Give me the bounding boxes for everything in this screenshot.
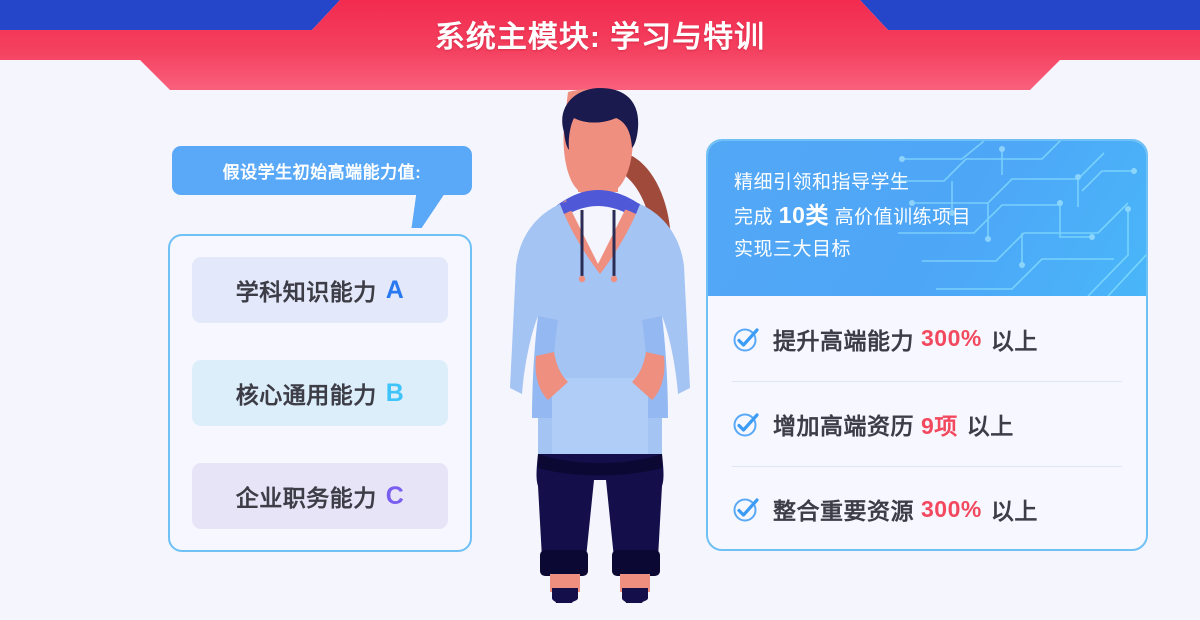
check-circle-icon: [732, 495, 760, 523]
goal-value: 300%: [921, 496, 982, 523]
check-circle-icon: [732, 410, 760, 438]
header-line-3: 实现三大目标: [734, 234, 1146, 266]
goal-text: 整合重要资源: [773, 492, 914, 526]
poster-canvas: 系统主模块: 学习与特训: [0, 0, 1200, 620]
speech-bubble-tail: [412, 194, 445, 228]
goal-item[interactable]: 增加高端资历 9项 以上: [732, 381, 1122, 466]
header-line-2: 完成 10类 高价值训练项目: [734, 199, 1146, 234]
speech-bubble-text: 假设学生初始高端能力值:: [223, 158, 422, 183]
goal-card-header: 精细引领和指导学生 完成 10类 高价值训练项目 实现三大目标: [708, 141, 1146, 296]
header-line-2-pre: 完成: [734, 207, 779, 228]
shoe-left: [552, 588, 578, 603]
header-line-2-post: 高价值训练项目: [829, 207, 971, 228]
goal-text: 增加高端资历: [773, 407, 914, 441]
goal-value: 300%: [921, 325, 982, 352]
goal-suffix: 以上: [991, 492, 1038, 526]
ability-label: 学科知识能力: [236, 273, 377, 307]
ability-label: 企业职务能力: [236, 479, 377, 513]
check-circle-icon: [732, 325, 760, 353]
goal-list: 提升高端能力 300% 以上 增加高端资历 9项 以上 整合重要资源: [708, 296, 1146, 551]
top-banner: 系统主模块: 学习与特训: [0, 0, 1200, 60]
pant-cuff-left: [540, 550, 588, 576]
header-line-1: 精细引领和指导学生: [734, 167, 1146, 199]
ability-card: 学科知识能力 A 核心通用能力 B 企业职务能力 C: [168, 234, 472, 552]
shoe-right: [622, 588, 648, 603]
goal-card-header-text: 精细引领和指导学生 完成 10类 高价值训练项目 实现三大目标: [708, 141, 1146, 266]
goal-text: 提升高端能力: [773, 322, 914, 356]
goal-suffix: 以上: [967, 407, 1014, 441]
ability-label: 核心通用能力: [236, 376, 377, 410]
goal-suffix: 以上: [991, 322, 1038, 356]
drawstring-tip-right: [611, 276, 617, 282]
student-illustration: [490, 88, 710, 608]
ability-row[interactable]: 核心通用能力 B: [192, 360, 448, 426]
ability-level: A: [386, 276, 405, 305]
ability-level: B: [386, 379, 405, 408]
drawstring-tip-left: [579, 276, 585, 282]
goal-item[interactable]: 提升高端能力 300% 以上: [732, 296, 1122, 381]
ability-row[interactable]: 企业职务能力 C: [192, 463, 448, 529]
goal-item[interactable]: 整合重要资源 300% 以上: [732, 466, 1122, 551]
page-title: 系统主模块: 学习与特训: [0, 0, 1200, 90]
pant-cuff-right: [612, 550, 660, 576]
goal-card: 精细引领和指导学生 完成 10类 高价值训练项目 实现三大目标 提升高端能力 3…: [706, 139, 1148, 551]
speech-bubble: 假设学生初始高端能力值:: [172, 146, 472, 195]
ability-row[interactable]: 学科知识能力 A: [192, 257, 448, 323]
goal-value: 9项: [921, 407, 958, 441]
ability-level: C: [386, 482, 405, 511]
header-line-2-emphasis: 10类: [779, 202, 829, 228]
hoodie-pocket: [552, 378, 648, 460]
